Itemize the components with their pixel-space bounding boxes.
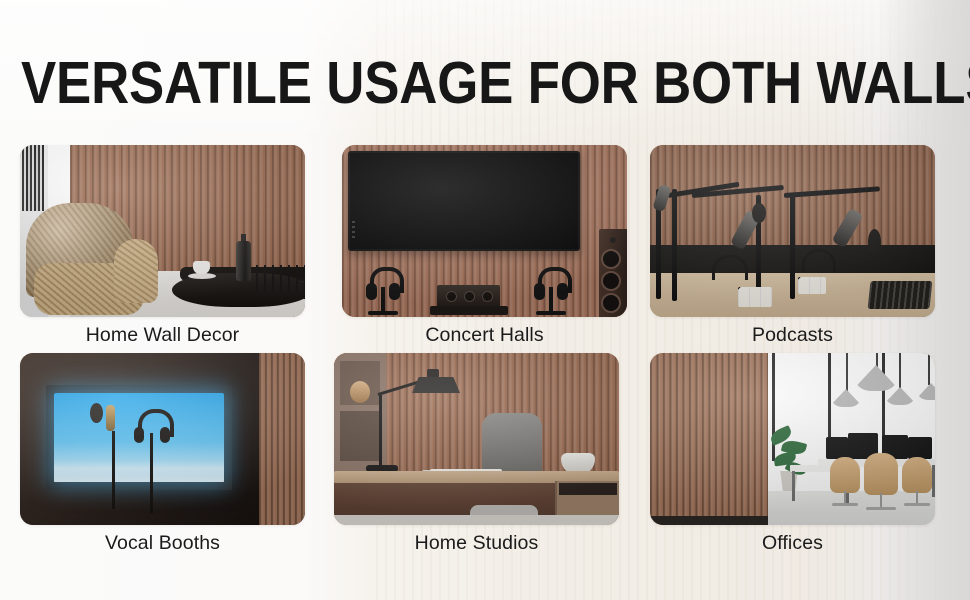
gallery-row: Home Wall Decor [0, 145, 970, 353]
gallery-item-caption: Home Wall Decor [20, 324, 305, 347]
thumbnail-podcasts[interactable] [650, 145, 935, 317]
gallery-item-offices[interactable]: Offices [650, 353, 935, 555]
thumbnail-vocal-booths[interactable] [20, 353, 305, 525]
vignette-overlay [20, 145, 305, 317]
thumbnail-home-studios[interactable] [334, 353, 619, 525]
vignette-overlay [342, 145, 627, 317]
gallery-item-caption: Vocal Booths [20, 532, 305, 555]
usage-gallery-grid: Home Wall Decor [0, 145, 970, 561]
gallery-item-caption: Podcasts [650, 324, 935, 347]
thumbnail-home-wall-decor[interactable] [20, 145, 305, 317]
thumbnail-offices[interactable] [650, 353, 935, 525]
vignette-overlay [650, 353, 935, 525]
thumbnail-concert-halls[interactable] [342, 145, 627, 317]
vignette-overlay [20, 353, 305, 525]
vignette-overlay [334, 353, 619, 525]
gallery-item-home-studios[interactable]: Home Studios [334, 353, 619, 555]
gallery-item-home-wall-decor[interactable]: Home Wall Decor [20, 145, 305, 347]
vignette-overlay [650, 145, 935, 317]
gallery-item-caption: Concert Halls [342, 324, 627, 347]
gallery-row: Vocal Booths [0, 353, 970, 561]
gallery-item-vocal-booths[interactable]: Vocal Booths [20, 353, 305, 555]
gallery-item-concert-halls[interactable]: Concert Halls [342, 145, 627, 347]
gallery-item-caption: Home Studios [334, 532, 619, 555]
page-title: VERSATILE USAGE FOR BOTH WALLS/CEILINGS [21, 53, 858, 113]
promo-banner: VERSATILE USAGE FOR BOTH WALLS/CEILINGS [0, 0, 970, 600]
gallery-item-podcasts[interactable]: Podcasts [650, 145, 935, 347]
gallery-item-caption: Offices [650, 532, 935, 555]
